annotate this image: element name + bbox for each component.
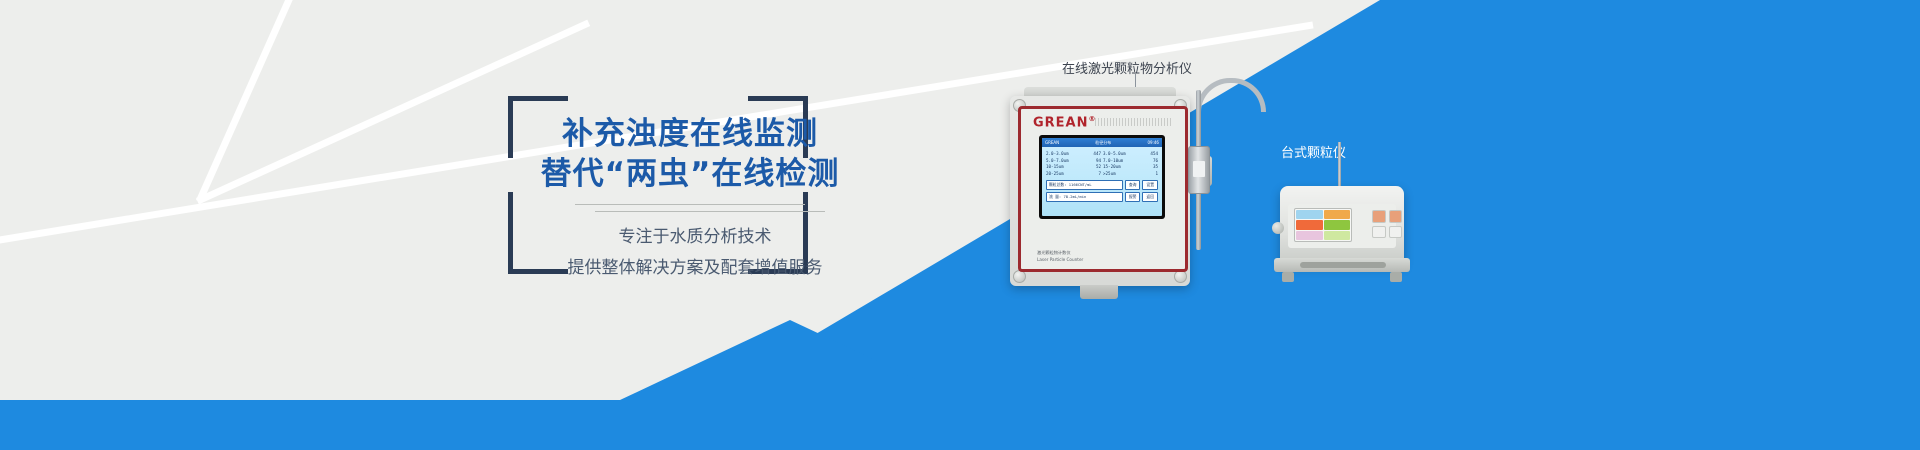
product-label-bench: 台式颗粒仪 [1281,142,1346,161]
lcd-logo: GREAN [1045,140,1059,145]
analyzer-brand-logo: GREAN® [1033,115,1097,130]
subtitle-line-1: 专注于水质分析技术 [510,222,880,253]
bench-tile-2 [1324,210,1351,219]
lcd-field-row-1: 颗粒总数: 1166CNT/mL 查询 设置 [1046,180,1158,190]
bench-tile-6 [1324,231,1351,240]
lcd-title-bar: GREAN 粒径分布 09:46 [1042,138,1162,147]
subtitle-line-2: 提供整体解决方案及配套增值服务 [510,253,880,284]
lcd-status-fields: 颗粒总数: 1166CNT/mL 查询 设置 流 量: 78.2mL/min 报… [1042,180,1162,202]
headline-divider-upper [575,204,805,205]
lcd-button-alarm[interactable]: 报警 [1125,192,1141,202]
analyzer-vent-hatch [1095,118,1173,126]
lcd-range-a-3: 20-25um [1046,171,1073,178]
bench-support-rod [1338,142,1341,190]
background-blue-bottom-strip [0,400,1920,450]
bench-tile-3 [1296,220,1323,229]
headline-line-1: 补充浊度在线监测 [510,115,870,155]
analyzer-bottom-port [1080,285,1118,299]
headline-line-2: 替代“两虫”在线检测 [510,155,870,195]
sample-tube-valve [1188,146,1210,194]
bench-tile-5 [1296,231,1323,240]
bench-key-1[interactable] [1372,210,1386,223]
bench-device [1272,170,1412,282]
lcd-range-b-3: >25um [1103,171,1130,178]
bench-key-3[interactable] [1372,226,1386,239]
bench-foot-left [1282,272,1294,282]
bracket-top-left-horizontal [508,96,568,101]
analyzer-model-en: Laser Particle Counter [1037,257,1083,263]
bench-tile-4 [1324,220,1351,229]
analyzer-device: GREAN® GREAN 粒径分布 09:46 2.0-3.0um 447 3.… [1010,96,1190,286]
lcd-value-a-3: 7 [1075,171,1102,178]
brand-text: GREAN [1033,115,1089,130]
lcd-field-row-2: 流 量: 78.2mL/min 报警 返回 [1046,192,1158,202]
bench-touchscreen[interactable] [1294,208,1352,242]
lcd-particle-table: 2.0-3.0um 447 3.0-5.0um 454 5.0-7.0um 94… [1042,147,1162,178]
lcd-title: 粒径分布 [1095,140,1111,146]
headline-divider-lower [595,211,825,212]
bench-tile-1 [1296,210,1323,219]
analyzer-model-caption: 激光颗粒物计数仪 Laser Particle Counter [1037,250,1083,263]
lcd-button-query[interactable]: 查询 [1125,180,1141,190]
lcd-value-b-3: 1 [1132,171,1159,178]
bench-key-2[interactable] [1389,210,1403,223]
bracket-top-right-horizontal [748,96,808,101]
lcd-button-back[interactable]: 返回 [1142,192,1158,202]
bench-foot-right [1390,272,1402,282]
analyzer-lcd-screen[interactable]: GREAN 粒径分布 09:46 2.0-3.0um 447 3.0-5.0um… [1039,135,1165,219]
valve-label-plate [1193,161,1205,177]
banner-headline: 补充浊度在线监测 替代“两虫”在线检测 [510,115,870,194]
bench-key-4[interactable] [1389,226,1403,239]
hero-banner: 补充浊度在线监测 替代“两虫”在线检测 专注于水质分析技术 提供整体解决方案及配… [0,0,1920,450]
banner-subtitle: 专注于水质分析技术 提供整体解决方案及配套增值服务 [510,222,880,285]
analyzer-front-plate: GREAN® GREAN 粒径分布 09:46 2.0-3.0um 447 3.… [1018,106,1188,272]
bench-inlet-knob [1272,222,1284,234]
lcd-flow-rate-field: 流 量: 78.2mL/min [1046,192,1123,202]
product-label-analyzer: 在线激光颗粒物分析仪 [1062,58,1192,77]
lcd-clock: 09:46 [1147,140,1159,145]
lcd-content: GREAN 粒径分布 09:46 2.0-3.0um 447 3.0-5.0um… [1042,138,1162,216]
bench-keypad[interactable] [1372,210,1402,238]
lcd-total-count-field: 颗粒总数: 1166CNT/mL [1046,180,1123,190]
lcd-button-settings[interactable]: 设置 [1142,180,1158,190]
bench-sample-slot [1300,262,1386,268]
